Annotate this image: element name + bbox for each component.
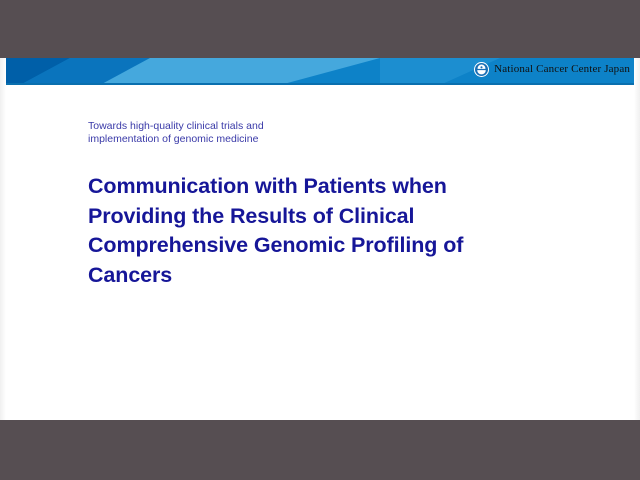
slide-viewer: National Cancer Center Japan Towards hig… bbox=[0, 0, 640, 480]
page-edge-left bbox=[0, 58, 6, 420]
slide-title-line-2: Providing the Results of Clinical bbox=[88, 202, 558, 232]
slide-title-line-1: Communication with Patients when bbox=[88, 172, 558, 202]
letterbox-bottom bbox=[0, 420, 640, 480]
organization-wordmark: National Cancer Center Japan bbox=[494, 63, 630, 76]
letterbox-top bbox=[0, 0, 640, 58]
slide-eyebrow-line-2: implementation of genomic medicine bbox=[88, 133, 558, 146]
slide-title: Communication with Patients when Providi… bbox=[88, 172, 558, 290]
organization-logo: National Cancer Center Japan bbox=[474, 62, 630, 77]
presentation-slide: National Cancer Center Japan Towards hig… bbox=[0, 58, 640, 420]
slide-title-line-3: Comprehensive Genomic Profiling of bbox=[88, 231, 558, 261]
slide-header-banner: National Cancer Center Japan bbox=[0, 58, 640, 85]
slide-eyebrow: Towards high-quality clinical trials and… bbox=[88, 120, 558, 146]
national-cancer-center-japan-emblem-icon bbox=[474, 62, 489, 77]
slide-eyebrow-line-1: Towards high-quality clinical trials and bbox=[88, 120, 264, 132]
slide-title-line-4: Cancers bbox=[88, 261, 558, 291]
slide-text-block: Towards high-quality clinical trials and… bbox=[88, 120, 558, 290]
page-edge-right bbox=[634, 58, 640, 420]
banner-underline bbox=[0, 83, 640, 85]
